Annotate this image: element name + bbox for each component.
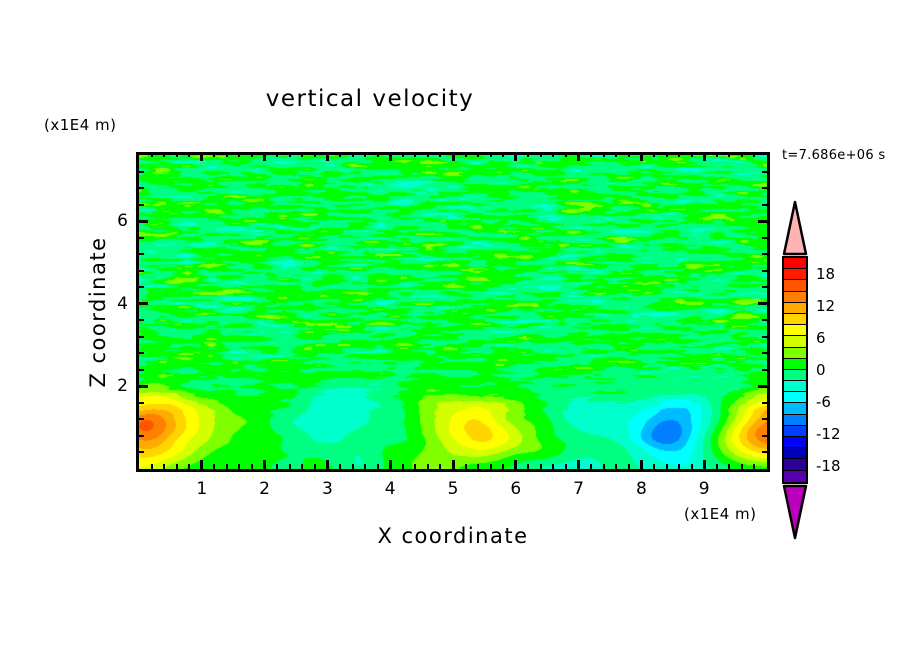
y-tick-minor	[139, 352, 144, 354]
x-tick-minor	[301, 464, 303, 469]
colorbar-cell	[784, 258, 806, 269]
y-tick-minor	[139, 369, 144, 371]
x-tick-minor	[188, 464, 190, 469]
x-tick-minor	[364, 464, 366, 469]
x-tick-minor	[741, 464, 743, 469]
colorbar-tick-label: 0	[816, 361, 826, 379]
x-tick-minor-top	[628, 152, 630, 157]
colorbar: 181260-6-12-18	[780, 198, 820, 520]
x-tick-label: 8	[636, 479, 647, 499]
y-tick-label: 4	[104, 294, 128, 314]
x-tick-minor-top	[603, 152, 605, 157]
colorbar-cell	[784, 269, 806, 280]
x-tick-minor	[565, 464, 567, 469]
x-tick-minor-top	[565, 152, 567, 157]
y-axis-unit-label: (x1E4 m)	[44, 116, 117, 134]
y-tick-major	[139, 385, 148, 388]
y-tick-minor-right	[762, 369, 767, 371]
x-tick-minor-top	[188, 152, 190, 157]
y-tick-minor-right	[762, 435, 767, 437]
x-tick-minor-top	[151, 152, 153, 157]
colorbar-cell	[784, 348, 806, 359]
y-tick-minor	[139, 418, 144, 420]
colorbar-cell	[784, 280, 806, 291]
x-tick-minor-top	[552, 152, 554, 157]
page-title: vertical velocity	[0, 86, 740, 112]
x-tick-major-top	[577, 152, 580, 161]
x-tick-label: 3	[322, 479, 333, 499]
x-tick-minor-top	[402, 152, 404, 157]
x-tick-minor	[691, 464, 693, 469]
x-tick-label: 1	[196, 479, 207, 499]
x-tick-minor-top	[527, 152, 529, 157]
y-tick-minor-right	[762, 402, 767, 404]
y-tick-minor	[139, 286, 144, 288]
x-tick-minor	[377, 464, 379, 469]
y-tick-minor	[139, 237, 144, 239]
figure-canvas: vertical velocity (x1E4 m) t=7.686e+06 s…	[0, 0, 904, 654]
colorbar-cell	[784, 336, 806, 347]
x-tick-label: 9	[699, 479, 710, 499]
y-tick-minor	[139, 270, 144, 272]
x-tick-minor-top	[289, 152, 291, 157]
x-tick-major	[326, 460, 329, 469]
colorbar-tick-label: 18	[816, 265, 835, 283]
x-tick-minor-top	[590, 152, 592, 157]
x-tick-minor	[213, 464, 215, 469]
y-tick-minor-right	[762, 253, 767, 255]
colorbar-cell	[784, 459, 806, 470]
x-tick-minor-top	[490, 152, 492, 157]
x-tick-minor-top	[728, 152, 730, 157]
y-tick-major-right	[758, 220, 767, 223]
x-tick-minor	[238, 464, 240, 469]
y-tick-minor	[139, 253, 144, 255]
timestamp-annotation: t=7.686e+06 s	[782, 148, 885, 163]
x-tick-minor	[490, 464, 492, 469]
x-tick-minor-top	[377, 152, 379, 157]
x-tick-label: 6	[510, 479, 521, 499]
x-tick-minor	[628, 464, 630, 469]
colorbar-cell	[784, 471, 806, 482]
x-tick-minor	[590, 464, 592, 469]
x-tick-minor-top	[465, 152, 467, 157]
colorbar-cell	[784, 303, 806, 314]
x-tick-minor	[465, 464, 467, 469]
x-tick-major	[514, 460, 517, 469]
y-tick-minor	[139, 451, 144, 453]
x-tick-minor-top	[301, 152, 303, 157]
x-tick-minor	[289, 464, 291, 469]
colorbar-cell	[784, 403, 806, 414]
x-tick-minor-top	[678, 152, 680, 157]
x-axis-unit-label: (x1E4 m)	[684, 505, 757, 523]
colorbar-cell	[784, 325, 806, 336]
x-tick-major	[577, 460, 580, 469]
x-tick-minor-top	[176, 152, 178, 157]
x-tick-minor	[666, 464, 668, 469]
x-tick-minor	[753, 464, 755, 469]
x-tick-minor-top	[439, 152, 441, 157]
y-tick-minor	[139, 435, 144, 437]
x-tick-minor	[502, 464, 504, 469]
x-tick-major-top	[326, 152, 329, 161]
y-tick-minor	[139, 336, 144, 338]
x-tick-minor	[176, 464, 178, 469]
x-tick-label: 2	[259, 479, 270, 499]
x-tick-major-top	[703, 152, 706, 161]
x-tick-minor-top	[226, 152, 228, 157]
x-tick-major-top	[640, 152, 643, 161]
x-tick-minor	[414, 464, 416, 469]
y-tick-minor-right	[762, 336, 767, 338]
x-tick-minor	[151, 464, 153, 469]
y-tick-minor-right	[762, 352, 767, 354]
y-tick-major	[139, 302, 148, 305]
x-tick-minor-top	[251, 152, 253, 157]
x-tick-minor	[352, 464, 354, 469]
x-tick-major	[703, 460, 706, 469]
y-tick-minor-right	[762, 319, 767, 321]
colorbar-cell	[784, 292, 806, 303]
y-tick-minor	[139, 171, 144, 173]
x-tick-minor-top	[615, 152, 617, 157]
x-tick-minor-top	[163, 152, 165, 157]
y-tick-major-right	[758, 302, 767, 305]
x-tick-minor-top	[276, 152, 278, 157]
x-tick-minor-top	[502, 152, 504, 157]
x-tick-minor	[226, 464, 228, 469]
x-tick-minor-top	[213, 152, 215, 157]
y-tick-minor	[139, 402, 144, 404]
colorbar-tick-label: -12	[816, 425, 841, 443]
colorbar-tick-label: 12	[816, 297, 835, 315]
y-tick-label: 6	[104, 211, 128, 231]
x-tick-minor	[653, 464, 655, 469]
x-tick-minor	[427, 464, 429, 469]
x-tick-major-top	[389, 152, 392, 161]
colorbar-tick-label: 6	[816, 329, 826, 347]
x-tick-minor	[527, 464, 529, 469]
colorbar-tick-label: -6	[816, 393, 831, 411]
colorbar-cell	[784, 448, 806, 459]
x-tick-minor	[728, 464, 730, 469]
y-tick-minor	[139, 319, 144, 321]
colorbar-cell	[784, 370, 806, 381]
y-tick-minor-right	[762, 451, 767, 453]
colorbar-cell	[784, 426, 806, 437]
x-tick-minor	[163, 464, 165, 469]
x-tick-minor-top	[540, 152, 542, 157]
colorbar-cell	[784, 437, 806, 448]
x-tick-label: 5	[448, 479, 459, 499]
x-tick-minor	[251, 464, 253, 469]
x-tick-major-top	[452, 152, 455, 161]
y-tick-minor-right	[762, 204, 767, 206]
colorbar-cells	[782, 256, 808, 484]
x-tick-minor-top	[314, 152, 316, 157]
x-tick-minor	[678, 464, 680, 469]
x-tick-major	[452, 460, 455, 469]
colorbar-tick-label: -18	[816, 457, 841, 475]
x-tick-minor	[402, 464, 404, 469]
x-tick-minor-top	[414, 152, 416, 157]
x-tick-minor	[603, 464, 605, 469]
x-tick-minor-top	[352, 152, 354, 157]
x-tick-minor	[439, 464, 441, 469]
y-tick-minor-right	[762, 237, 767, 239]
y-tick-minor	[139, 204, 144, 206]
x-tick-major	[640, 460, 643, 469]
x-tick-minor	[615, 464, 617, 469]
y-tick-minor-right	[762, 187, 767, 189]
x-tick-minor-top	[238, 152, 240, 157]
x-tick-minor-top	[666, 152, 668, 157]
y-tick-minor-right	[762, 171, 767, 173]
x-tick-major-top	[263, 152, 266, 161]
x-tick-major-top	[514, 152, 517, 161]
y-tick-minor-right	[762, 418, 767, 420]
x-tick-minor-top	[364, 152, 366, 157]
colorbar-under-arrow	[782, 484, 808, 540]
x-tick-minor-top	[741, 152, 743, 157]
x-tick-minor	[276, 464, 278, 469]
x-tick-minor-top	[691, 152, 693, 157]
x-tick-minor	[540, 464, 542, 469]
colorbar-cell	[784, 392, 806, 403]
x-tick-minor-top	[339, 152, 341, 157]
x-tick-minor	[339, 464, 341, 469]
x-tick-major	[389, 460, 392, 469]
y-tick-label: 2	[104, 376, 128, 396]
colorbar-cell	[784, 381, 806, 392]
contour-field	[139, 155, 767, 469]
x-tick-major	[263, 460, 266, 469]
x-axis-title: X coordinate	[136, 524, 770, 548]
x-tick-minor	[477, 464, 479, 469]
y-tick-minor-right	[762, 270, 767, 272]
x-tick-minor-top	[477, 152, 479, 157]
x-tick-major-top	[200, 152, 203, 161]
x-tick-minor-top	[427, 152, 429, 157]
x-tick-minor	[716, 464, 718, 469]
plot-area	[136, 152, 770, 472]
x-tick-minor	[314, 464, 316, 469]
y-tick-major-right	[758, 385, 767, 388]
colorbar-over-arrow	[782, 200, 808, 256]
y-tick-major	[139, 220, 148, 223]
colorbar-cell	[784, 415, 806, 426]
x-tick-minor	[552, 464, 554, 469]
x-tick-label: 4	[385, 479, 396, 499]
colorbar-cell	[784, 359, 806, 370]
colorbar-cell	[784, 314, 806, 325]
x-tick-minor-top	[653, 152, 655, 157]
y-tick-minor-right	[762, 286, 767, 288]
y-tick-minor	[139, 187, 144, 189]
x-tick-label: 7	[573, 479, 584, 499]
x-tick-major	[200, 460, 203, 469]
x-tick-minor-top	[716, 152, 718, 157]
x-tick-minor-top	[753, 152, 755, 157]
